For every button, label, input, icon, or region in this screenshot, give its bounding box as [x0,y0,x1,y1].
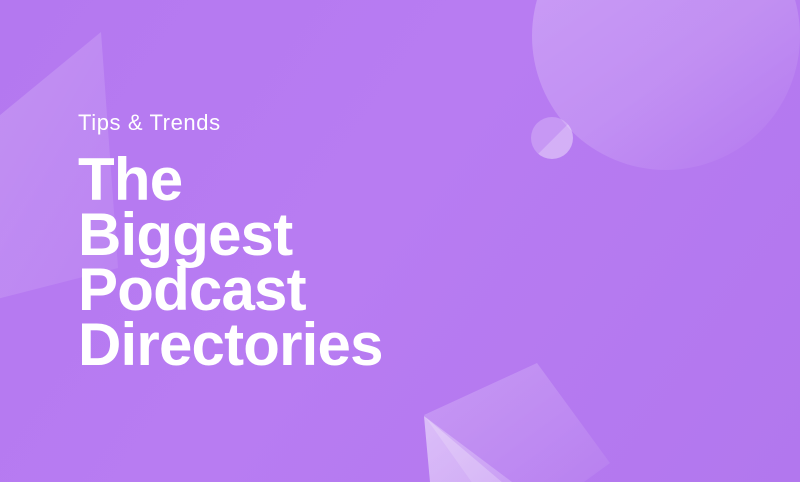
page-title: The Biggest Podcast Directories [78,152,598,372]
headline-line-4: Directories [78,317,598,372]
eyebrow-label: Tips & Trends [78,108,598,138]
promo-banner: Tips & Trends The Biggest Podcast Direct… [0,0,800,482]
headline-line-3: Podcast [78,262,598,317]
headline-line-2: Biggest [78,207,598,262]
bottom-highlight-band-shape [424,416,523,482]
headline-line-1: The [78,152,598,207]
bottom-rotated-square-shape [424,363,610,482]
bottom-highlight-wedge-shape [424,416,512,482]
banner-content: Tips & Trends The Biggest Podcast Direct… [78,108,598,372]
